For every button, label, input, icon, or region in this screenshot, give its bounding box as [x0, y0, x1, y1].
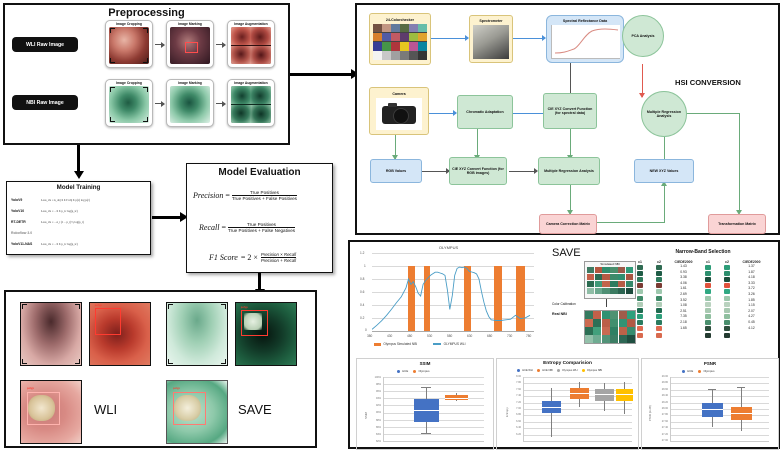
entropy-b4-median [616, 394, 633, 395]
node-label: Transformation Matrix [718, 222, 756, 226]
y-tick: 0.4 [360, 303, 364, 307]
y-tick: 98% [368, 381, 381, 388]
loss-formula: Loss_cls = − α_t (1 − p_t)^γ log(p_t) [41, 220, 84, 224]
y-tick: 1 [364, 264, 366, 268]
arrow-training-to-evaluation [152, 216, 181, 219]
y-tick: 82% [368, 438, 381, 445]
narrow-band-selection: Narrow-Band Selection c1 c2 [628, 245, 778, 353]
node-pca-analysis: PCA Analysis [622, 15, 664, 57]
arrow-wli-1 [155, 44, 164, 45]
col-c1-left: c1 [633, 260, 647, 338]
spectral-mini-chart [551, 25, 620, 59]
result-img-save-polyp: polyp [166, 380, 228, 444]
model-name: YoloV11-NAS [11, 242, 41, 246]
nbi-aug-thumb [231, 86, 271, 123]
col-ciede2000-left: CIEDE2000 1.43 0.93 3.38 4.06 1.61 2.69 … [671, 260, 696, 338]
ssim-hce-median [414, 410, 439, 411]
psnr-yticks: 29.00 28.80 28.60 28.40 28.20 28.00 27.8… [654, 374, 668, 444]
node-label: RGB Values [386, 169, 406, 173]
result-img-wli-detected: polyp [89, 302, 151, 366]
legend-label: Olympus [703, 369, 714, 373]
nbi-raw-text: NBI Raw Image [26, 100, 63, 106]
ssim-plot [383, 377, 484, 442]
model-evaluation-title: Model Evaluation [187, 167, 332, 178]
node-label: Chromatic Adaptation [466, 110, 503, 114]
entropy-b3-box [595, 389, 614, 401]
hsi-conversion-panel: 24-Colorchecker Spectrometer Spectral Re… [355, 3, 780, 235]
card-wli-marking: Image Marking [166, 20, 214, 68]
x-tick: 380 [367, 334, 372, 338]
node-camera: Camera [369, 87, 429, 135]
swatch-col [720, 264, 734, 338]
detection-box [27, 392, 60, 425]
equals-sign: = [225, 191, 230, 200]
node-new-xyz-values: NEW XYZ Values [634, 159, 694, 183]
save-calibration-block: SAVE Simulated NBI Color Calibration Rea… [546, 245, 641, 353]
camera-icon [376, 98, 422, 130]
legend-swatch [557, 369, 560, 372]
value-cell: 1.65 [671, 326, 696, 332]
conn-ciexyz-chromatic [509, 113, 544, 114]
y-tick: 27.00 [654, 438, 668, 444]
x-tick: 680 [487, 334, 492, 338]
legend-item-hce-nbi: HCE NBI [537, 369, 553, 372]
psnr-plot [670, 377, 769, 442]
save-results-label: SAVE [238, 402, 272, 417]
conn-ciexyzrgb-mra2 [509, 171, 537, 172]
preprocessing-panel: Preprocessing WLI Raw Image NBI Raw Imag… [3, 3, 290, 145]
legend-item-olympus: Olympus [413, 369, 429, 373]
ssim-hce-cap-bottom [421, 433, 431, 434]
psnr-ylabel: PSNR (in dB) [649, 405, 652, 421]
legend-swatch [582, 369, 585, 372]
psnr-hce-median [702, 409, 723, 410]
conn-rgb-ciexyzrgb [422, 171, 449, 172]
node-label: Camera Correction Matrix [546, 222, 590, 226]
card-wli-cropping: Image Cropping [105, 20, 153, 68]
legend-label: HCE WLI [522, 369, 533, 372]
wli-crop-thumb [109, 27, 149, 64]
wli-mark-thumb [170, 27, 210, 64]
y-tick: 0.6 [360, 290, 364, 294]
legend-label: Olympus NBI [587, 369, 602, 372]
save-results-panel: OLYMPUS 1.2 1 0.8 0.6 0.4 0.2 [348, 240, 780, 449]
y-tick: 96% [368, 388, 381, 395]
node-spectral-reflectance: Spectral Reflectance Data [546, 15, 624, 63]
legend-item-olympus-nbi: Olympus NBI [582, 369, 603, 372]
y-tick: 88% [368, 417, 381, 424]
arrow-evaluation-to-results [258, 273, 261, 290]
spectrometer-photo [473, 25, 509, 59]
card-nbi-augmentation: Image Augmentation [227, 79, 275, 127]
model-training-panel: Model Training YoloV9 Loss_cls = k_obj Σ… [6, 181, 151, 255]
entropy-chart: Entropy Comparision HCE WLI HCE NBI Olym… [496, 358, 639, 450]
result-img-nbi-plain [166, 302, 228, 366]
legend-item-olympus: Olympus [698, 369, 714, 373]
node-chromatic-adaptation: Chromatic Adaptation [457, 95, 513, 129]
f1-label: F1 Score [209, 253, 238, 262]
legend-swatch [517, 369, 520, 372]
wli-results-label: WLI [94, 402, 117, 417]
arrowhead-to-training [74, 171, 84, 179]
legend-label: HCE NBI [542, 369, 553, 372]
conn-correction-newxyz-v [664, 185, 665, 223]
legend-label: HCE [402, 369, 408, 373]
wli-raw-text: WLI Raw Image [26, 42, 64, 48]
col-ciede2000-right: CIEDE2000 1.37 1.87 4.18 3.33 3.72 3.26 … [739, 260, 764, 338]
ssim-title: SSIM [357, 361, 493, 366]
conn-spectral-ciexyz [570, 62, 571, 97]
entropy-b4-box [616, 389, 633, 401]
f1-prefix: = 2 × [241, 253, 258, 262]
node-transformation-matrix: Transformation Matrix [708, 214, 766, 234]
precision-denominator: True Positives + False Positives [232, 196, 297, 201]
y-tick: 92% [368, 402, 381, 409]
node-multiple-regression-2: Multiple Regression Analysis [538, 157, 600, 185]
y-tick: 86% [368, 424, 381, 431]
y-tick: 94% [368, 395, 381, 402]
legend-item-hce: HCE [397, 369, 408, 373]
node-ciexyz-spectral: CIE XYZ Convert Function (for spectral d… [543, 93, 597, 129]
x-tick: 630 [467, 334, 472, 338]
psnr-oly-median [731, 413, 752, 414]
y-tick: 1.2 [360, 251, 364, 255]
x-tick: 480 [407, 334, 412, 338]
conn-newxyz-up [664, 135, 665, 159]
y-tick: 84% [368, 431, 381, 438]
legend-label: Olympus WLI [562, 369, 578, 372]
x-tick: 530 [427, 334, 432, 338]
hsi-conversion-title: HSI CONVERSION [675, 78, 741, 87]
equals-sign: = [221, 223, 226, 232]
narrow-band-title: Narrow-Band Selection [628, 249, 778, 255]
node-label: CIE XYZ Convert Function (for spectral d… [545, 107, 595, 116]
arrow-wli-2 [216, 44, 225, 45]
legend-item-hce: HCE [682, 369, 693, 373]
conn-spectrometer-spectral [512, 38, 545, 39]
legend-item-olympus-wli: OLYMPUS WLI [433, 342, 465, 346]
node-ciexyz-rgb: CIE XYZ Convert Function (for RGB images… [449, 157, 507, 185]
conn-colorchecker-spectrometer [430, 38, 468, 39]
wli-aug-thumb [231, 27, 271, 64]
legend-label: OLYMPUS WLI [444, 342, 466, 346]
node-label: Multiple Regression Analysis [544, 169, 594, 173]
y-tick: 90% [368, 409, 381, 416]
card-wli-augmentation: Image Augmentation [227, 20, 275, 68]
precision-formula: Precision = True Positives True Positive… [193, 190, 297, 201]
y-tick: 6.20 [508, 432, 521, 438]
olympus-chart-legend: Olympus Simulated NBI OLYMPUS WLI [374, 342, 466, 346]
recall-formula: Recall = True Positives True Positives +… [199, 222, 295, 233]
x-tick: 430 [387, 334, 392, 338]
color-calibration-label: Color Calibration [552, 302, 576, 306]
psnr-legend: HCE Olympus [682, 369, 715, 373]
node-label: Camera [392, 92, 405, 96]
node-label: Spectral Reflectance Data [563, 19, 607, 23]
precision-label: Precision [193, 191, 223, 200]
arrow-nbi-2 [216, 103, 225, 104]
detection-box [173, 392, 206, 425]
legend-swatch [537, 369, 540, 372]
detection-label: polyp [95, 304, 102, 307]
arrow-nbi-1 [155, 103, 164, 104]
loss-formula: Loss_cls = − Σ Σ p_ic log(p_ic) [41, 209, 78, 213]
entropy-b2-median [570, 393, 589, 394]
entropy-legend: HCE WLI HCE NBI Olympus WLI Olympus NBI [517, 369, 602, 372]
legend-swatch [682, 370, 685, 373]
entropy-title: Entropy Comparision [497, 361, 638, 366]
psnr-oly-cap [737, 387, 745, 388]
olympus-plot [372, 253, 534, 331]
result-img-wli-polyp: polyp [20, 380, 82, 444]
f1-numerator: Precision × Recall [261, 252, 296, 257]
legend-label: Olympus Simulated NBI [383, 342, 417, 346]
psnr-chart: PSNR HCE Olympus PSNR (in dB) [641, 358, 779, 450]
loss-formula: Loss_cls = k_obj Σ Σ I^obj Σ p(c) log p(… [41, 198, 90, 202]
olympus-chart-title: OLYMPUS [356, 245, 541, 250]
narrow-band-columns: c1 c2 [633, 260, 764, 338]
psnr-hce-cap [708, 389, 716, 390]
legend-swatch [698, 370, 701, 373]
y-tick: 0.8 [360, 277, 364, 281]
entropy-b1-median [542, 407, 561, 408]
legend-line [433, 343, 441, 344]
swatch-col [652, 264, 666, 338]
card-nbi-marking: Image Marking [166, 79, 214, 127]
node-spectrometer: Spectrometer [469, 15, 513, 63]
conn-mra-transform [739, 113, 740, 213]
y-tick: 100% [368, 374, 381, 381]
arrow-preprocessing-to-hsi [290, 73, 352, 76]
entropy-b3-median [595, 394, 614, 395]
f1-denominator: Precision + Recall [261, 258, 296, 263]
recall-label: Recall [199, 223, 219, 232]
model-training-title: Model Training [7, 184, 150, 191]
detection-label: polyp [173, 387, 180, 390]
entropy-plot [523, 377, 632, 442]
node-camera-correction-matrix: Camera Correction Matrix [539, 214, 597, 234]
node-multiple-regression: Multiple Regression Analysis [641, 91, 687, 137]
results-images-panel: polyp polyp polyp WLI polyp SAVE [4, 290, 317, 448]
recall-denominator: True Positives + False Negatives [228, 228, 295, 233]
node-label: 24-Colorchecker [386, 18, 414, 22]
ssim-legend: HCE Olympus [397, 369, 430, 373]
olympus-chart: OLYMPUS 1.2 1 0.8 0.6 0.4 0.2 [356, 245, 541, 353]
arrow-preprocessing-to-training [77, 145, 80, 172]
wli-raw-image-label: WLI Raw Image [12, 37, 78, 52]
legend-label: HCE [687, 369, 693, 373]
value-cell: 4.12 [739, 326, 764, 332]
ssim-chart: SSIM HCE Olympus SSIM [356, 358, 494, 450]
legend-item-olympus-wli: Olympus WLI [557, 369, 578, 372]
node-label: PCA Analysis [631, 34, 654, 38]
legend-swatch [413, 370, 416, 373]
loss-formula: Loss_cls = − Σ Σ p_ic log(p_ic) [41, 242, 78, 246]
model-training-rows: YoloV9 Loss_cls = k_obj Σ Σ I^obj Σ p(c)… [11, 194, 147, 249]
model-evaluation-panel: Model Evaluation Precision = True Positi… [186, 163, 333, 273]
legend-item-hce-wli: HCE WLI [517, 369, 533, 372]
node-label: Spectrometer [479, 19, 502, 23]
node-24-colorchecker: 24-Colorchecker [369, 13, 431, 65]
detection-label: polyp [27, 387, 34, 390]
model-name: RT-DETR [11, 220, 41, 224]
legend-swatch [374, 343, 381, 346]
real-nbi-label: Real NBI [552, 312, 567, 316]
nbi-crop-thumb [109, 86, 149, 123]
ssim-yticks: 100% 98% 96% 94% 92% 90% 88% 86% 84% 82% [368, 374, 381, 445]
model-name: Roboflow 3.0 [11, 231, 41, 235]
legend-label: Olympus [418, 369, 429, 373]
detection-box [95, 308, 121, 335]
ssim-hce-cap-top [421, 387, 431, 388]
result-img-wli-plain [20, 302, 82, 366]
node-label: Multiple Regression Analysis [643, 110, 685, 119]
node-label: NEW XYZ Values [650, 169, 679, 173]
psnr-title: PSNR [642, 361, 778, 366]
f1-formula: F1 Score = 2 × Precision × Recall Precis… [209, 252, 296, 263]
node-label: CIE XYZ Convert Function (for RGB images… [451, 167, 505, 176]
y-tick: 0.2 [360, 316, 364, 320]
swatch-col [633, 264, 647, 338]
node-rgb-values: RGB Values [370, 159, 422, 183]
card-nbi-cropping: Image Cropping [105, 79, 153, 127]
legend-swatch [397, 370, 400, 373]
conn-camera-chromatic [429, 113, 456, 114]
conn-correction-newxyz-h [597, 222, 665, 223]
x-tick: 780 [526, 334, 531, 338]
arrowhead [639, 93, 645, 98]
model-name: YoloV9 [11, 198, 41, 202]
preprocessing-title: Preprocessing [5, 7, 288, 19]
model-name: YoloV10 [11, 209, 41, 213]
x-tick: 580 [447, 334, 452, 338]
entropy-yticks: 8.00 7.80 7.60 7.40 7.20 7.00 6.80 6.60 … [508, 374, 521, 438]
col-c2-right: c2 [720, 260, 734, 338]
y-tick: 0 [365, 328, 367, 332]
col-c1-right: c1 [701, 260, 715, 338]
nbi-mark-thumb [170, 86, 210, 123]
col-c2-left: c2 [652, 260, 666, 338]
psnr-hce-box [702, 403, 723, 417]
swatch-col [701, 264, 715, 338]
colorchecker-grid [373, 24, 427, 60]
simulated-nbi-swatches [587, 267, 633, 294]
legend-item-simulated-nbi: Olympus Simulated NBI [374, 342, 417, 346]
ssim-oly-median [445, 398, 468, 399]
detection-label: polyp [241, 306, 248, 309]
nbi-raw-image-label: NBI Raw Image [12, 95, 78, 110]
calibration-arrow-icon [606, 299, 607, 307]
x-tick: 730 [507, 334, 512, 338]
result-img-save-detected: polyp [235, 302, 297, 366]
